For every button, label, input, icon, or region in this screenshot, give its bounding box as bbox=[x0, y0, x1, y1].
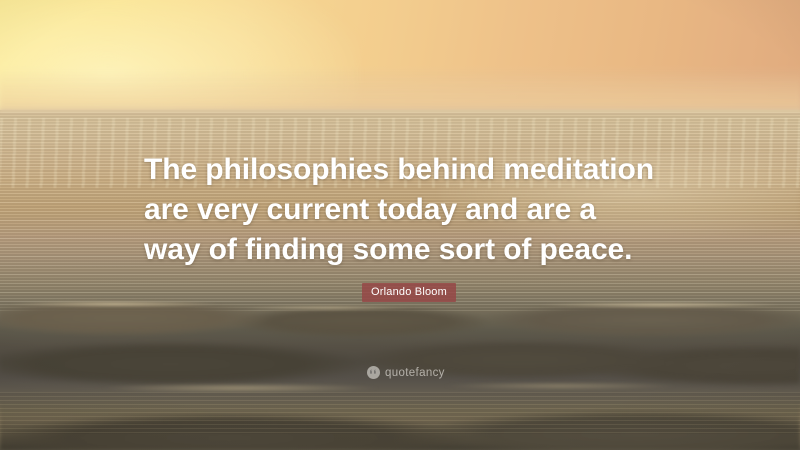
author-badge[interactable]: Orlando Bloom bbox=[362, 283, 456, 302]
quote-mark-icon bbox=[367, 366, 380, 379]
quote-line-3: way of finding some sort of peace. bbox=[144, 230, 684, 270]
quotefancy-brand-label: quotefancy bbox=[385, 367, 445, 379]
quote-line-2: are very current today and are a bbox=[144, 190, 684, 230]
quote-line-1: The philosophies behind meditation bbox=[144, 150, 684, 190]
quote-wallpaper: The philosophies behind meditation are v… bbox=[0, 0, 800, 450]
quote-text-block: The philosophies behind meditation are v… bbox=[144, 150, 684, 270]
quotefancy-watermark[interactable]: quotefancy bbox=[367, 366, 445, 379]
foreground-shimmer bbox=[0, 392, 800, 434]
